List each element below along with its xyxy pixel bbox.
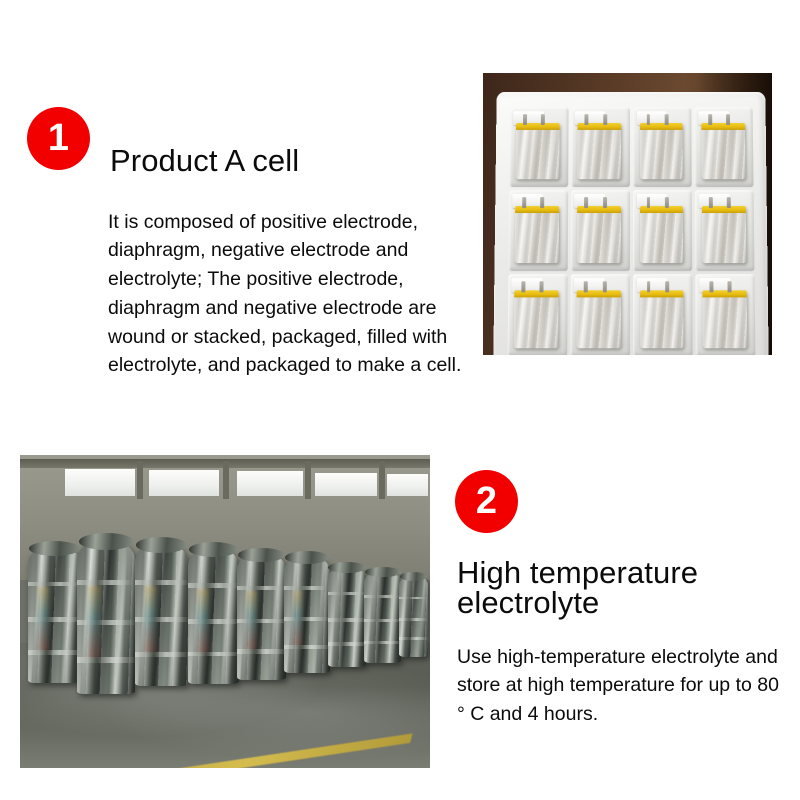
- window-mullion: [223, 461, 230, 499]
- terminal-tab: [708, 197, 712, 208]
- yellow-tape: [639, 291, 683, 297]
- terminal-tab: [539, 281, 543, 292]
- steel-drum: [188, 548, 239, 685]
- pouch-cell: [639, 291, 683, 349]
- blister-tray: [493, 92, 768, 355]
- drum-hoop: [328, 592, 367, 596]
- terminal-tab: [584, 197, 588, 208]
- yellow-tape: [639, 206, 683, 212]
- drum-lid: [365, 567, 400, 577]
- terminal-tab: [707, 114, 711, 125]
- steel-drum: [399, 575, 428, 656]
- drum-hoop: [28, 650, 81, 655]
- drum-reflection: [197, 589, 208, 652]
- drum-lid: [238, 548, 285, 562]
- drum-hoop: [28, 617, 81, 622]
- drum-hoop: [284, 645, 329, 649]
- tray-pocket: [509, 108, 568, 188]
- steel-drum: [135, 543, 188, 686]
- terminal-tab: [646, 114, 650, 125]
- pouch-cell: [702, 291, 747, 349]
- section-1-number-badge: 1: [27, 107, 90, 170]
- drum-lid: [136, 537, 187, 553]
- drum-hoop: [237, 649, 286, 653]
- section-2-number: 2: [476, 482, 497, 520]
- terminal-tab: [664, 114, 668, 125]
- drum-lid: [189, 542, 238, 557]
- drum-hoop: [77, 580, 134, 585]
- terminal-tab: [709, 281, 713, 292]
- section-2-title: High temperature electrolyte: [457, 558, 777, 619]
- section-2-body-text: Use high-temperature electrolyte and sto…: [457, 643, 787, 729]
- warehouse-window: [65, 469, 135, 497]
- tray-pocket: [695, 190, 755, 271]
- terminal-tab: [584, 114, 588, 125]
- steel-drum: [77, 540, 134, 695]
- pouch-cell: [515, 123, 559, 179]
- window-mullion: [305, 461, 312, 499]
- terminal-tab: [522, 197, 526, 208]
- tray-pocket: [570, 274, 630, 355]
- terminal-tab: [646, 197, 650, 208]
- pouch-cell: [701, 206, 745, 263]
- drum-hoop: [188, 583, 239, 588]
- terminal-tab: [541, 114, 545, 125]
- drum-lid: [400, 572, 428, 581]
- steel-drum: [364, 571, 401, 664]
- tray-pocket: [507, 274, 567, 355]
- drum-reflection: [293, 591, 303, 645]
- warehouse-window: [387, 474, 428, 497]
- drum-reflection: [144, 586, 156, 652]
- drum-lid: [29, 541, 80, 556]
- drum-hoop: [284, 586, 329, 590]
- window-mullion: [137, 461, 144, 499]
- drum-lid: [285, 551, 328, 564]
- tray-pocket: [571, 108, 630, 188]
- steel-drum: [28, 546, 81, 683]
- tray-pocket: [633, 190, 692, 271]
- pouch-cell: [576, 291, 620, 349]
- terminal-tab: [727, 281, 731, 292]
- section-1-title: Product A cell: [110, 143, 299, 179]
- drum-reflection: [246, 591, 257, 649]
- drum-hoop: [284, 617, 329, 621]
- pouch-cells-in-tray-photo: [483, 73, 772, 355]
- drum-hoop: [188, 652, 239, 657]
- pouch-cell: [513, 291, 558, 349]
- warehouse-window: [315, 473, 377, 497]
- terminal-tab: [584, 281, 588, 292]
- drum-hoop: [364, 619, 401, 622]
- warehouse-window: [237, 471, 303, 496]
- pouch-cell: [639, 123, 683, 179]
- terminal-tab: [540, 197, 544, 208]
- drum-hoop: [135, 617, 188, 622]
- cell-grid: [507, 108, 756, 355]
- drum-hoop: [364, 595, 401, 598]
- drum-reflection: [88, 586, 101, 657]
- terminal-tab: [646, 281, 650, 292]
- drum-hoop: [135, 652, 188, 657]
- terminal-tab: [602, 197, 606, 208]
- drum-hoop: [399, 597, 428, 600]
- terminal-tab: [521, 281, 525, 292]
- section-2-number-badge: 2: [455, 470, 518, 533]
- pouch-cell: [514, 206, 558, 263]
- drum-hoop: [328, 618, 367, 622]
- steel-drum: [237, 553, 286, 680]
- tray-pocket: [695, 274, 755, 355]
- terminal-tab: [664, 197, 668, 208]
- yellow-floor-line: [111, 733, 413, 768]
- yellow-tape: [639, 123, 682, 129]
- drum-hoop: [188, 619, 239, 624]
- drum-hoop: [364, 641, 401, 644]
- yellow-tape: [701, 206, 745, 212]
- drum-hoop: [77, 620, 134, 625]
- terminal-tab: [665, 281, 669, 292]
- drum-hoop: [399, 637, 428, 640]
- drum-hoop: [399, 618, 428, 621]
- drum-hoop: [237, 586, 286, 590]
- drum-hoop: [77, 657, 134, 662]
- tray-pocket: [570, 190, 629, 271]
- tray-pocket: [633, 108, 692, 188]
- drum-reflection: [38, 587, 50, 650]
- drum-hoop: [135, 580, 188, 585]
- steel-drums-warehouse-photo: [20, 455, 430, 768]
- section-1-number: 1: [48, 119, 69, 157]
- steel-drum: [328, 566, 367, 667]
- drum-hoop: [328, 642, 367, 646]
- product-info-page: 1 Product A cell It is composed of posit…: [0, 0, 800, 800]
- drum-hoop: [28, 582, 81, 587]
- pouch-cell: [701, 123, 745, 179]
- drum-lid: [79, 533, 134, 550]
- drum-lid: [328, 562, 365, 573]
- terminal-tab: [726, 197, 730, 208]
- yellow-tape: [701, 123, 744, 129]
- drum-group: [20, 536, 430, 699]
- terminal-tab: [523, 114, 527, 125]
- terminal-tab: [602, 281, 606, 292]
- tray-pocket: [694, 108, 753, 188]
- terminal-tab: [726, 114, 730, 125]
- yellow-tape: [702, 291, 746, 297]
- drum-hoop: [237, 619, 286, 623]
- window-mullion: [379, 461, 386, 499]
- tray-pocket: [508, 190, 568, 271]
- tray-pocket: [633, 274, 693, 355]
- pouch-cell: [577, 123, 621, 179]
- section-1-body-text: It is composed of positive electrode, di…: [108, 208, 476, 381]
- pouch-cell: [577, 206, 621, 263]
- steel-drum: [284, 556, 329, 673]
- pouch-cell: [639, 206, 683, 263]
- warehouse-window: [149, 470, 219, 496]
- terminal-tab: [602, 114, 606, 125]
